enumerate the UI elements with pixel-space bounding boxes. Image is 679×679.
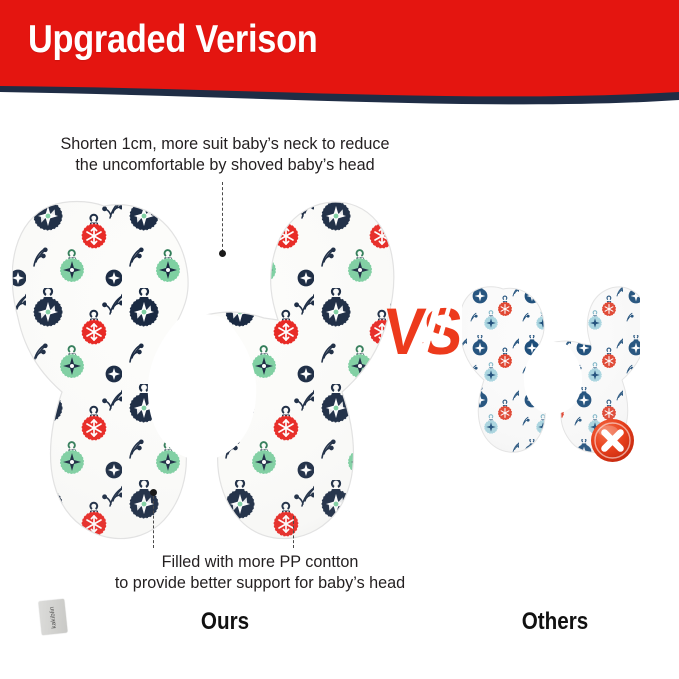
product-image-ours: kakiblin: [12, 186, 402, 546]
leader-line-bottom-left: [153, 496, 154, 548]
caption-bottom-line1: Filled with more PP contton: [58, 552, 462, 573]
caption-top-line2: the uncomfortable by shoved baby’s head: [40, 155, 410, 176]
leader-line-bottom-right: [293, 516, 294, 548]
x-mark-badge: [590, 418, 635, 463]
caption-top: Shorten 1cm, more suit baby’s neck to re…: [40, 134, 410, 176]
label-ours: Ours: [156, 608, 294, 636]
caption-bottom-line2: to provide better support for baby’s hea…: [58, 573, 462, 594]
versus-label: VS: [373, 298, 471, 364]
brand-label-text: kakiblin: [48, 606, 57, 629]
page-title: Upgraded Verison: [28, 18, 317, 62]
leader-dot-bottom-left: [150, 489, 157, 496]
brand-label-tag: kakiblin: [38, 599, 67, 636]
label-others: Others: [486, 608, 624, 636]
header-banner: Upgraded Verison: [0, 0, 679, 110]
caption-top-line1: Shorten 1cm, more suit baby’s neck to re…: [40, 134, 410, 155]
caption-bottom: Filled with more PP contton to provide b…: [58, 552, 462, 594]
infographic-page: Upgraded Verison Shorten 1cm, more suit …: [0, 0, 679, 679]
versus-badge: VS: [372, 276, 472, 396]
